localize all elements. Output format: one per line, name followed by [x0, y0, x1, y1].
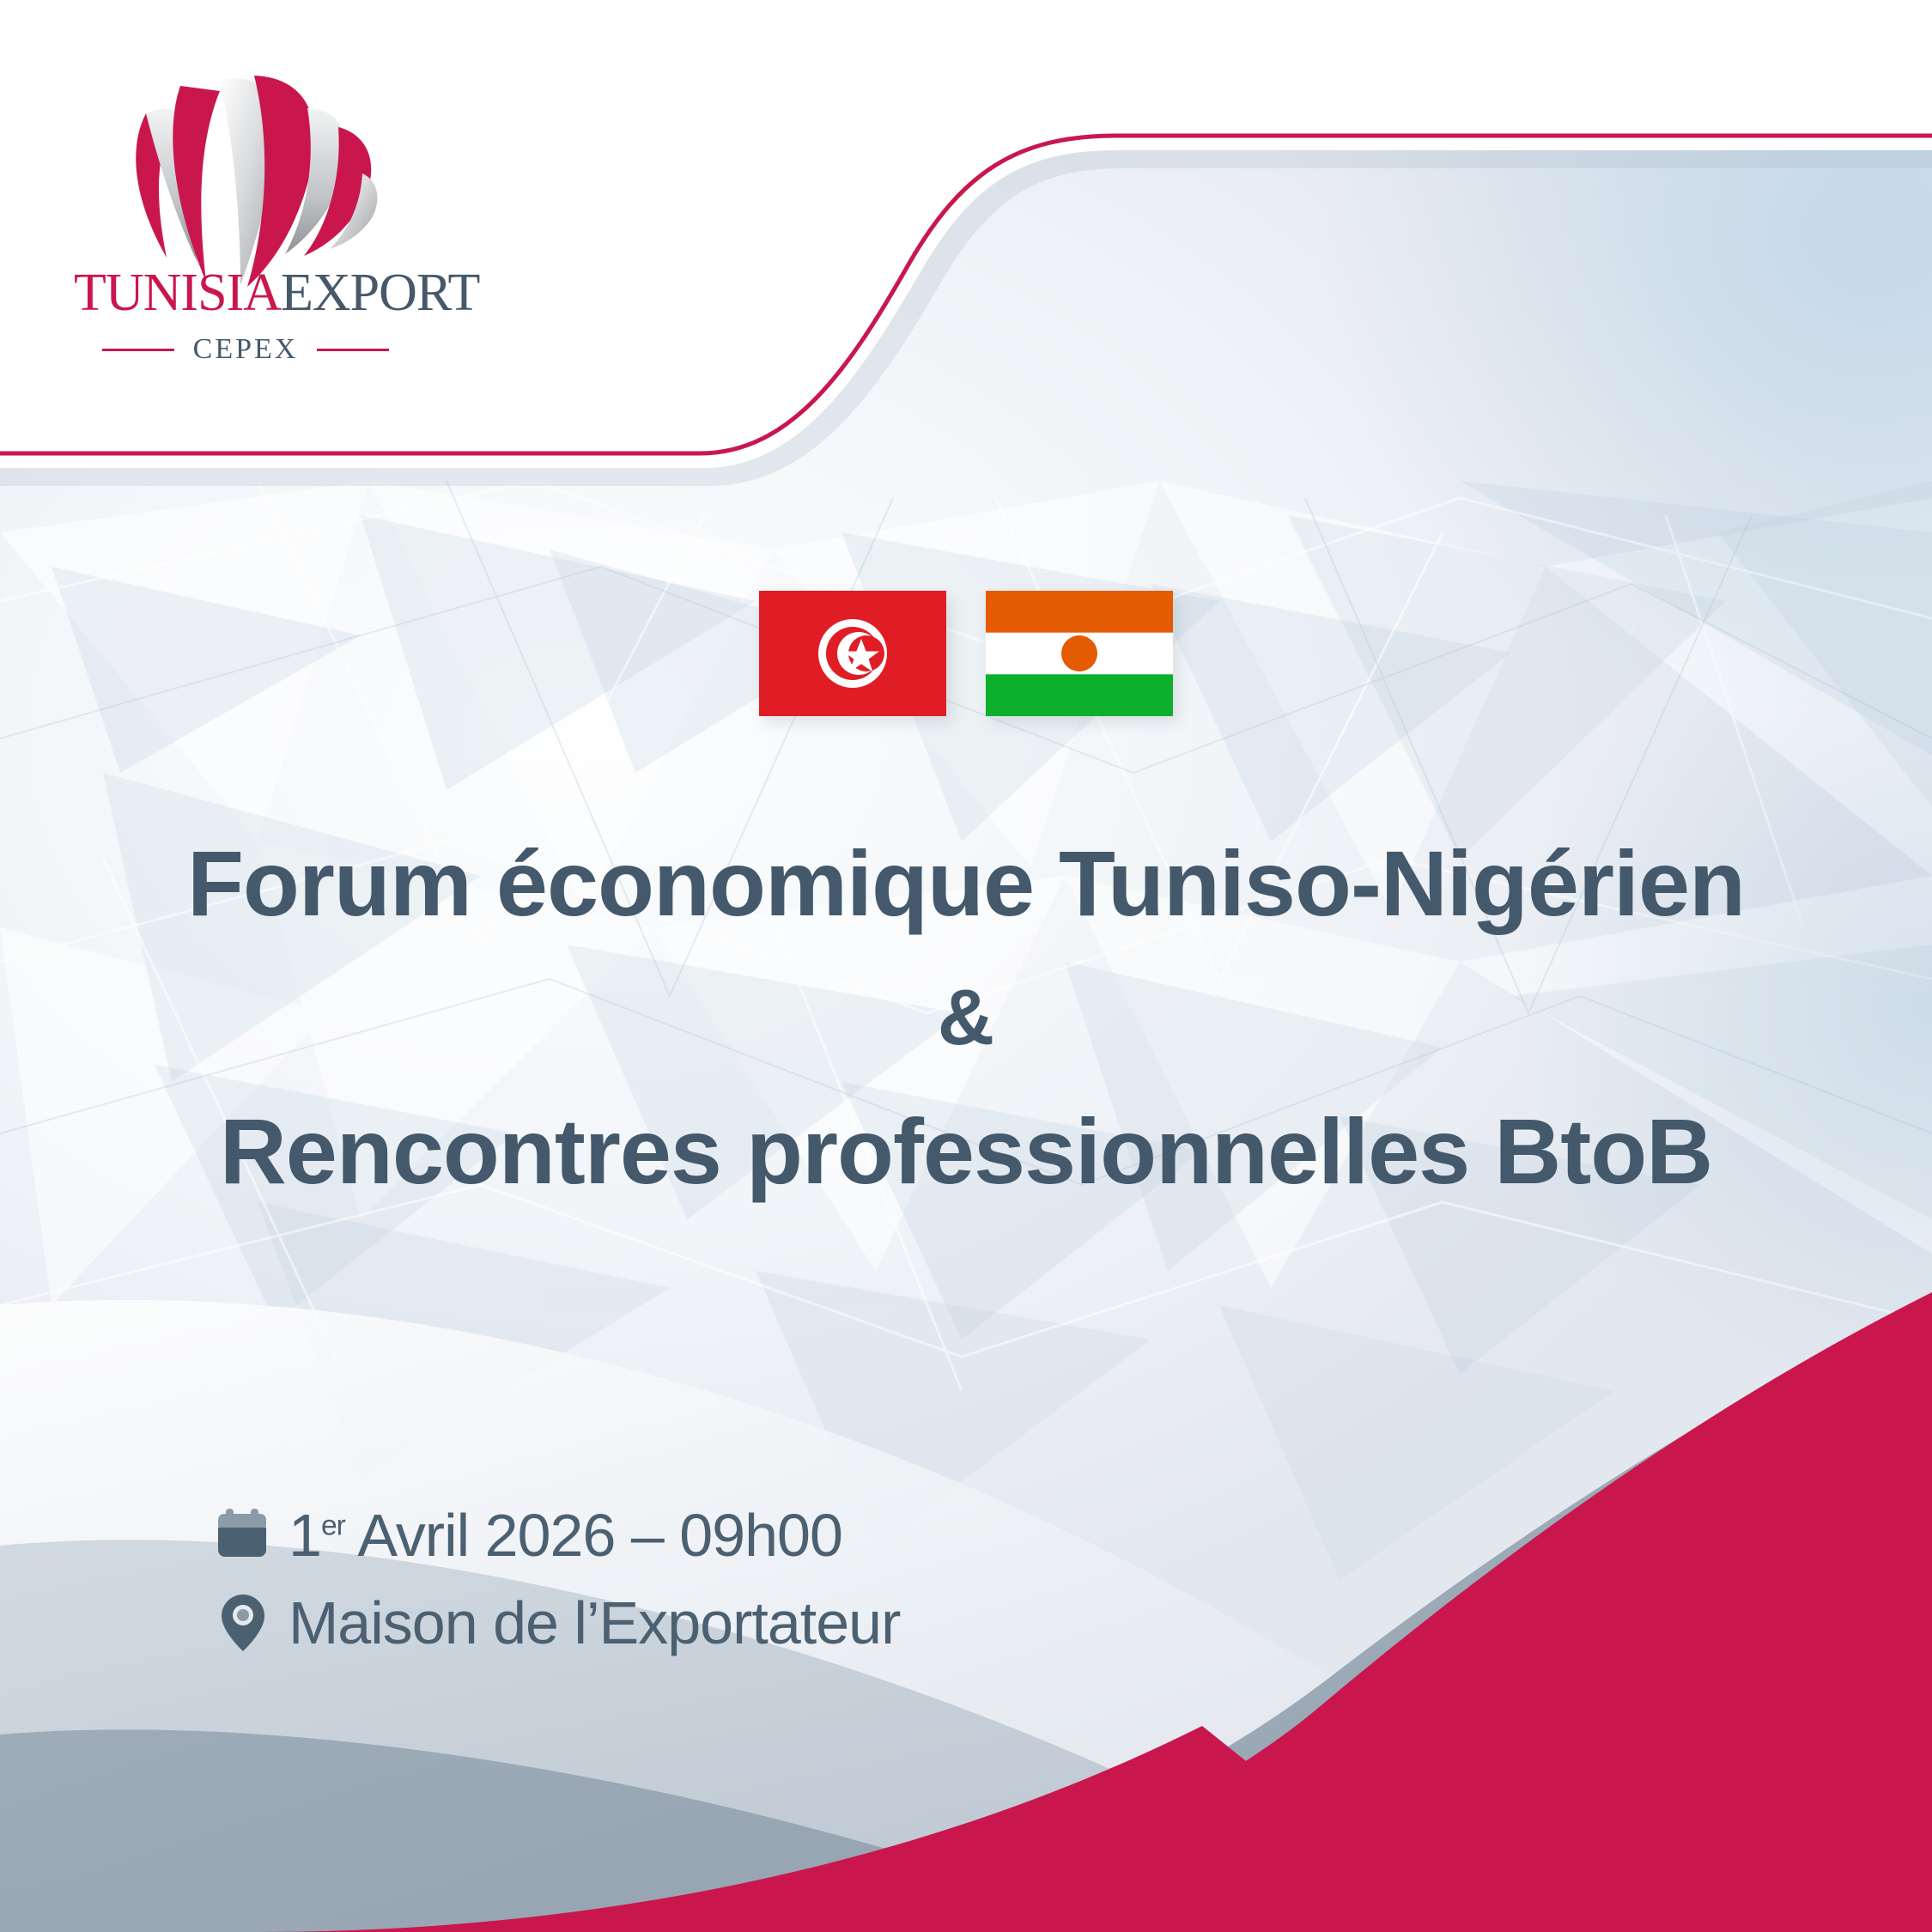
event-title-line-2: Rencontres professionnelles BtoB — [0, 1105, 1932, 1198]
event-date-ordinal: er — [321, 1510, 345, 1542]
logo-subtitle: CEPEX — [193, 333, 299, 366]
tunisia-export-logo: TUNISIAEXPORT CEPEX — [74, 60, 434, 386]
event-location-text: Maison de l’Exportateur — [289, 1589, 900, 1657]
event-title-block: Forum économique Tuniso-Nigérien & Renco… — [0, 837, 1932, 1198]
event-details: 1er Avril 2026 – 09h00 Maison de l’Expor… — [216, 1501, 900, 1676]
logo-name-primary: TUNISIA — [74, 264, 281, 322]
event-date-row: 1er Avril 2026 – 09h00 — [216, 1501, 900, 1570]
event-title-ampersand: & — [0, 978, 1932, 1057]
logo-rule-right — [317, 349, 389, 351]
logo-name-secondary: EXPORT — [281, 264, 479, 322]
event-title-line-1: Forum économique Tuniso-Nigérien — [0, 837, 1932, 930]
event-date-text: 1er Avril 2026 – 09h00 — [289, 1501, 842, 1570]
logo-subtitle-row: CEPEX — [74, 333, 417, 366]
event-date-rest: Avril 2026 – 09h00 — [345, 1502, 842, 1569]
tunisia-export-petal-mark-icon — [94, 60, 386, 292]
flag-tunisia-icon — [759, 591, 946, 716]
calendar-icon — [216, 1504, 270, 1566]
flag-niger-icon — [986, 591, 1173, 716]
logo-wordmark: TUNISIAEXPORT — [74, 266, 417, 319]
event-date-day: 1 — [289, 1502, 321, 1569]
flags-row — [759, 591, 1173, 716]
location-pin-icon — [216, 1592, 270, 1654]
event-poster: TUNISIAEXPORT CEPEX — [0, 0, 1932, 1932]
logo-rule-left — [102, 349, 174, 351]
event-location-row: Maison de l’Exportateur — [216, 1589, 900, 1657]
